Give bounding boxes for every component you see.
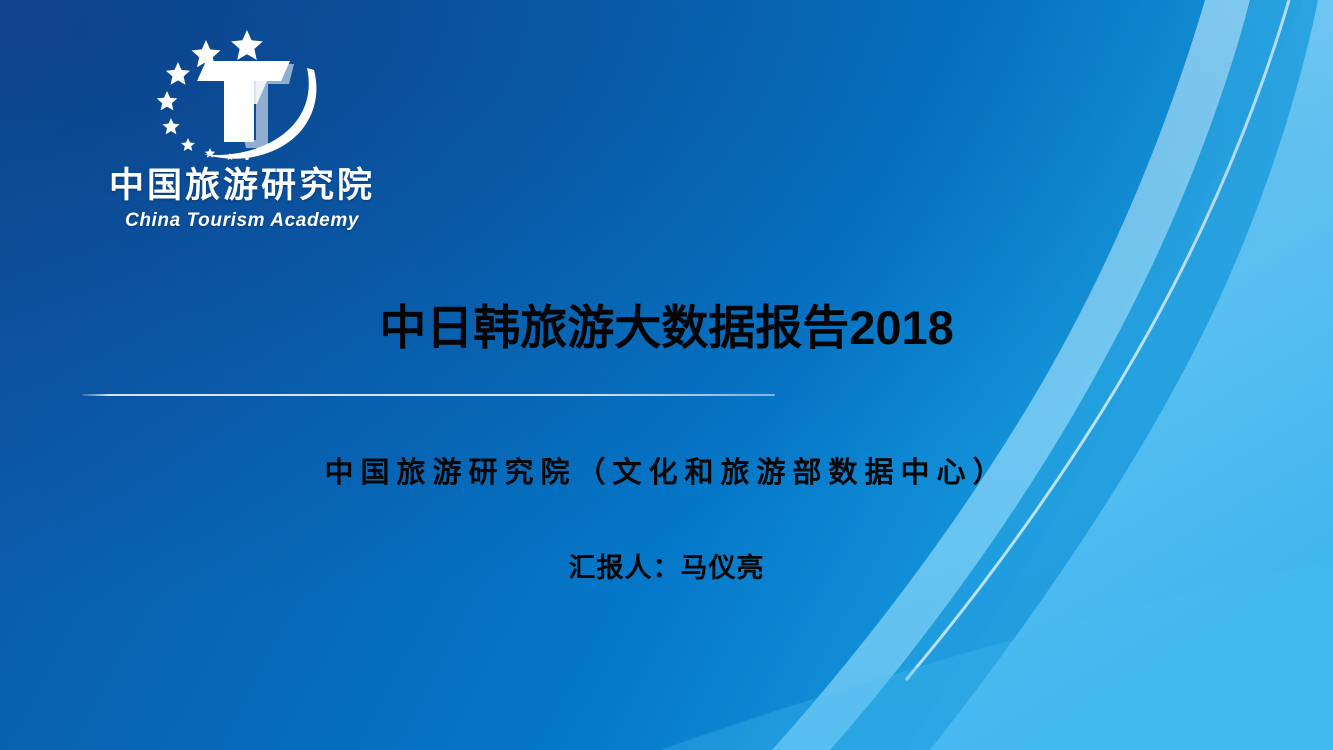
- slide-title: 中日韩旅游大数据报告2018: [0, 300, 1333, 355]
- presenter-name: 汇报人：马仪亮: [0, 552, 1333, 586]
- title-divider: [82, 394, 775, 396]
- china-tourism-academy-emblem-icon: [144, 28, 324, 160]
- logo-name-en: China Tourism Academy: [86, 211, 398, 230]
- organization-name: 中国旅游研究院（文化和旅游部数据中心）: [0, 455, 1333, 493]
- organization-logo: 中国旅游研究院 China Tourism Academy: [86, 28, 398, 228]
- emblem-t-main: [197, 61, 290, 142]
- logo-name-cn: 中国旅游研究院: [86, 168, 398, 203]
- title-slide: 中国旅游研究院 China Tourism Academy 中日韩旅游大数据报告…: [0, 0, 1333, 750]
